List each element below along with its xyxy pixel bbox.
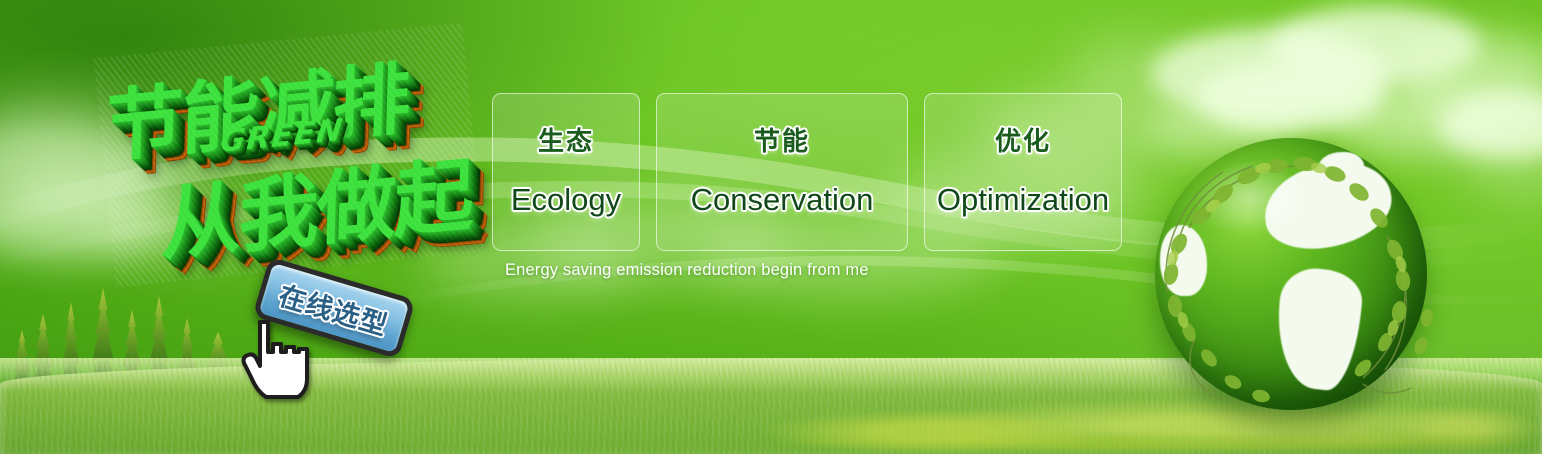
feature-card-optimization[interactable]: 优化 Optimization [924,93,1122,251]
continent-south-america [1271,265,1365,393]
card-label-zh: 节能 [754,129,810,155]
card-label-en: Ecology [511,184,621,215]
feature-card-ecology[interactable]: 生态 Ecology [492,93,640,251]
card-label-en: Conservation [691,184,874,215]
continent-west-edge [1160,225,1206,296]
tagline-text: Energy saving emission reduction begin f… [505,261,869,280]
continent-north-america [1259,157,1397,256]
eco-banner: 节能减排 GREEN 从我做起 生态 Ecology 节能 Conservati… [0,0,1542,454]
card-label-zh: 优化 [995,129,1051,155]
title-3d-artwork: 节能减排 GREEN 从我做起 [94,23,484,287]
globe-sphere [1155,138,1427,410]
leafy-earth-globe-icon [1155,138,1427,410]
feature-card-conservation[interactable]: 节能 Conservation [656,93,908,251]
feature-card-list: 生态 Ecology 节能 Conservation 优化 Optimizati… [492,93,1122,251]
card-label-zh: 生态 [538,129,594,155]
card-label-en: Optimization [937,184,1109,215]
pointing-hand-cursor-icon [236,318,310,404]
